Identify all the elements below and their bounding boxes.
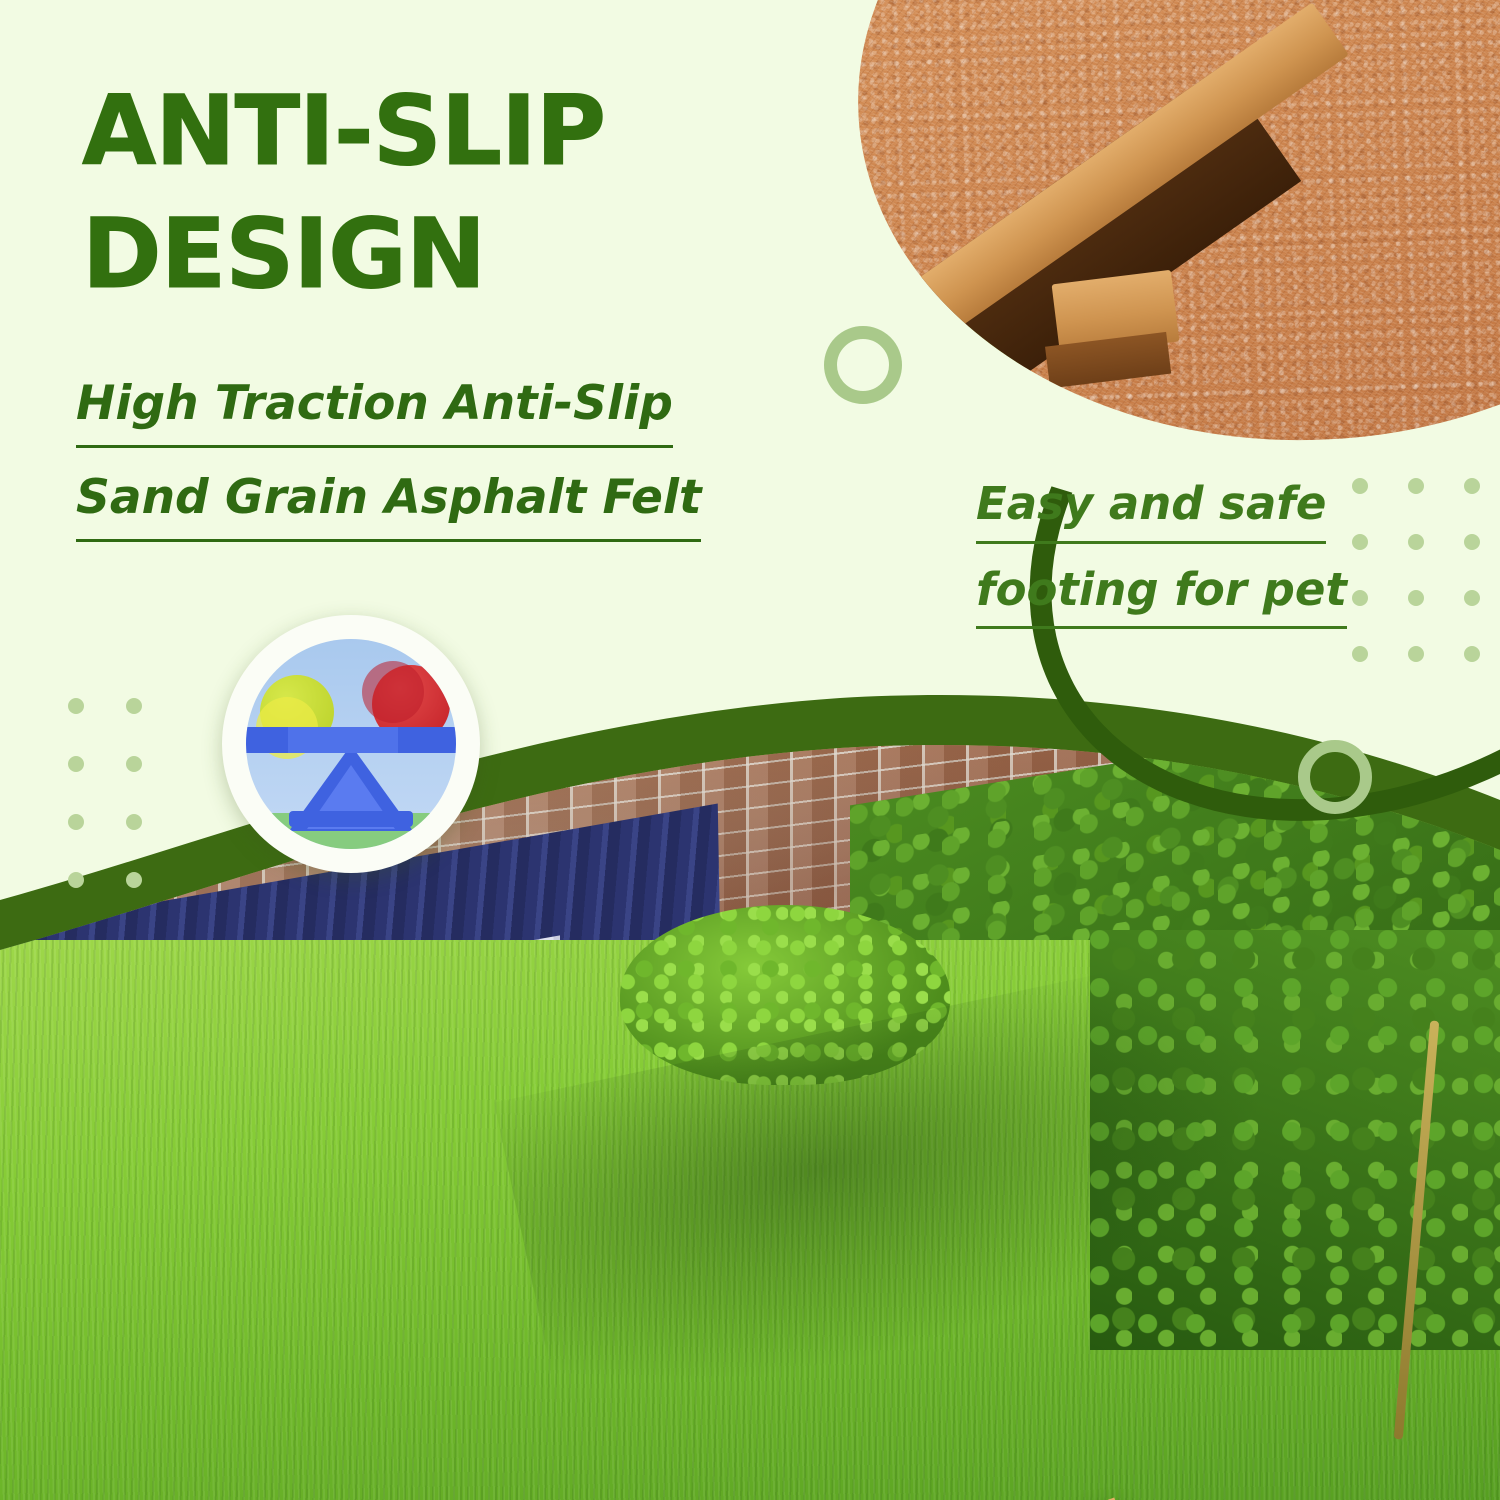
decor-dot (68, 814, 84, 830)
decor-dot (1464, 478, 1480, 494)
product-seesaw (0, 1380, 1500, 1500)
headline-line-1: ANTI-SLIP (82, 70, 802, 193)
decor-dots-left (68, 698, 142, 888)
decor-dot (1352, 478, 1368, 494)
decor-dots-right (1352, 478, 1480, 662)
badge-base (289, 811, 413, 827)
decor-dot (1408, 646, 1424, 662)
headline-line-2: DESIGN (82, 193, 802, 316)
decor-dot (1464, 646, 1480, 662)
decor-ring-bottom-right (1298, 740, 1372, 814)
inset-photo-asphalt-felt (846, 0, 1500, 455)
main-photo-garden-scene (0, 690, 1500, 1500)
decor-dot (1352, 534, 1368, 550)
decor-dot (1464, 534, 1480, 550)
subtitle-line-1: High Traction Anti-Slip (76, 368, 673, 448)
decor-dot (68, 872, 84, 888)
decor-dot (126, 872, 142, 888)
seesaw-balance-icon (222, 615, 480, 873)
product-infographic: ANTI-SLIP DESIGN High Traction Anti-Slip… (0, 0, 1500, 1500)
decor-dot (1408, 590, 1424, 606)
decor-dot (1408, 534, 1424, 550)
decor-dot (1408, 478, 1424, 494)
decor-dot (126, 814, 142, 830)
decor-dot (126, 756, 142, 772)
subtitle-block: High Traction Anti-Slip Sand Grain Aspha… (76, 368, 776, 556)
caption-block: Easy and safe footing for pet (976, 470, 1356, 641)
badge-beam-highlight (288, 727, 398, 753)
subtitle-line-2: Sand Grain Asphalt Felt (76, 462, 701, 542)
decor-dot (1352, 590, 1368, 606)
decor-dot (126, 698, 142, 714)
decor-ring-top-right (824, 326, 902, 404)
decor-dot (68, 698, 84, 714)
decor-dot (1464, 590, 1480, 606)
caption-line-1: Easy and safe (976, 470, 1326, 544)
page-title: ANTI-SLIP DESIGN (82, 70, 802, 316)
caption-line-2: footing for pet (976, 556, 1347, 630)
decor-dot (68, 756, 84, 772)
decor-dot (1352, 646, 1368, 662)
